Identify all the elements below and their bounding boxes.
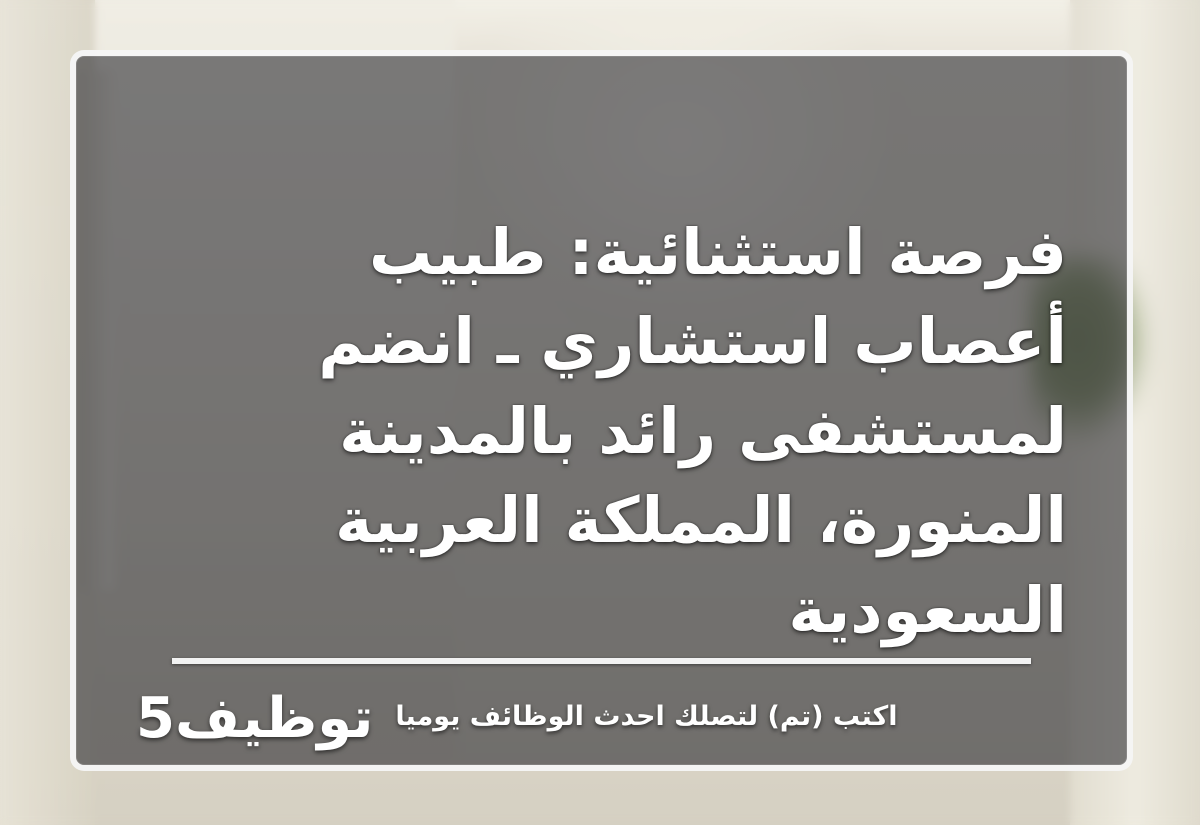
tagline: اكتب (تم) لتصلك احدث الوظائف يوميا [395, 703, 897, 736]
divider [172, 658, 1031, 664]
brand-logo[interactable]: 5توظيف [136, 691, 373, 747]
overlay-card: فرصة استثنائية: طبيب أعصاب استشاري ـ انض… [70, 50, 1133, 771]
brand-number: 5 [136, 691, 175, 747]
footer: 5توظيف اكتب (تم) لتصلك احدث الوظائف يومي… [136, 680, 1097, 758]
banner-stage: فرصة استثنائية: طبيب أعصاب استشاري ـ انض… [0, 0, 1200, 825]
page-title: فرصة استثنائية: طبيب أعصاب استشاري ـ انض… [136, 208, 1067, 655]
brand-word: توظيف [175, 691, 373, 747]
